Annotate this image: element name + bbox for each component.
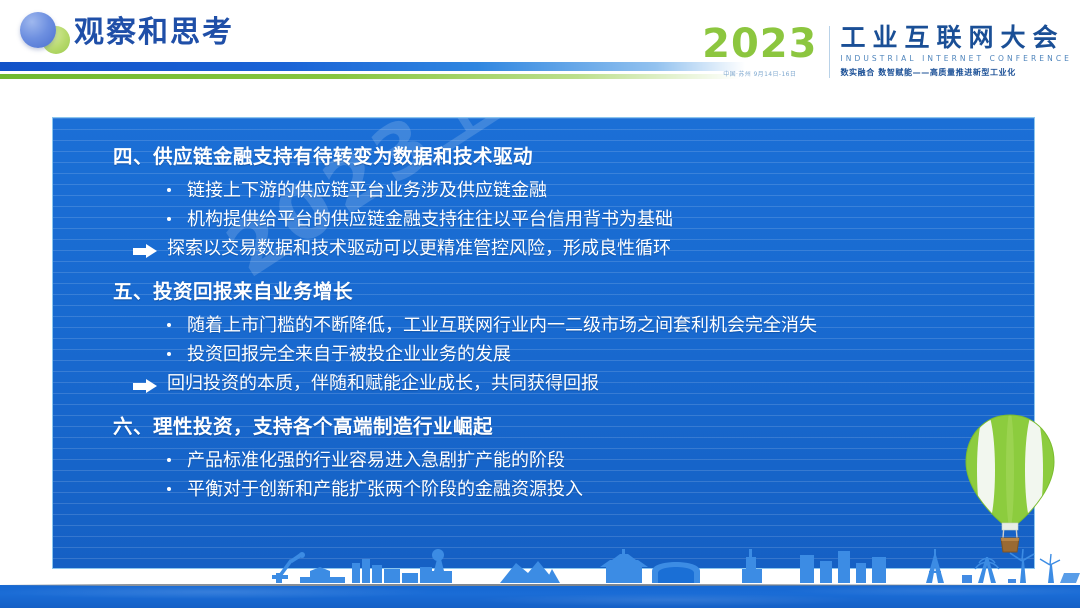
bullet-item: 机构提供给平台的供应链金融支持往往以平台信用背书为基础 [113,205,1034,234]
conference-date: 中国·苏州 9月14日-16日 [702,69,817,78]
bullet-text: 投资回报完全来自于被投企业业务的发展 [187,340,511,369]
section-heading: 四、供应链金融支持有待转变为数据和技术驱动 [113,140,1034,169]
bullet-list: 链接上下游的供应链平台业务涉及供应链金融机构提供给平台的供应链金融支持往往以平台… [113,176,1034,263]
bullet-item: 平衡对于创新和产能扩张两个阶段的金融资源投入 [113,475,1034,504]
arrow-bullet-icon [133,235,167,264]
industrial-city-skyline-icon [0,549,1080,585]
bullet-item: 链接上下游的供应链平台业务涉及供应链金融 [113,176,1034,205]
arrow-bullet-icon [133,370,167,399]
conference-logo-divider [829,26,830,78]
hot-air-balloon-icon [960,412,1060,562]
header-blue-rule [0,62,745,71]
conference-name-en: INDUSTRIAL INTERNET CONFERENCE [840,54,1072,63]
brand-sphere-logo-icon [14,8,76,56]
conference-logo: 2023 中国·苏州 9月14日-16日 工业互联网大会 INDUSTRIAL … [702,24,1072,90]
bullet-text: 机构提供给平台的供应链金融支持往往以平台信用背书为基础 [187,205,673,234]
content-section: 四、供应链金融支持有待转变为数据和技术驱动链接上下游的供应链平台业务涉及供应链金… [113,140,1034,263]
conference-name-cn: 工业互联网大会 [840,24,1072,51]
header-green-rule [0,74,740,79]
section-heading: 六、理性投资，支持各个高端制造行业崛起 [113,410,1034,439]
bullet-text: 探索以交易数据和技术驱动可以更精准管控风险，形成良性循环 [167,234,671,263]
bottom-wave-band [0,585,1080,608]
bullet-item: 随着上市门槛的不断降低，工业互联网行业内一二级市场之间套利机会完全消失 [113,311,1034,340]
bullet-text: 平衡对于创新和产能扩张两个阶段的金融资源投入 [187,475,583,504]
conference-year-block: 2023 中国·苏州 9月14日-16日 [702,24,829,78]
section-heading: 五、投资回报来自业务增长 [113,275,1034,304]
bullet-text: 随着上市门槛的不断降低，工业互联网行业内一二级市场之间套利机会完全消失 [187,311,817,340]
slide-header: 观察和思考 2023 中国·苏州 9月14日-16日 工业互联网大会 INDUS… [0,0,1080,110]
bullet-text: 回归投资的本质，伴随和赋能企业成长，共同获得回报 [167,369,599,398]
bullet-list: 产品标准化强的行业容易进入急剧扩产能的阶段平衡对于创新和产能扩张两个阶段的金融资… [113,446,1034,504]
content-panel: 2023工业互联网大会 四、供应链金融支持有待转变为数据和技术驱动链接上下游的供… [52,117,1035,569]
conference-name-block: 工业互联网大会 INDUSTRIAL INTERNET CONFERENCE 数… [840,24,1072,78]
page-title: 观察和思考 [74,7,234,51]
bullet-list: 随着上市门槛的不断降低，工业互联网行业内一二级市场之间套利机会完全消失投资回报完… [113,311,1034,398]
bullet-item: 探索以交易数据和技术驱动可以更精准管控风险，形成良性循环 [113,234,1034,263]
sections-list: 四、供应链金融支持有待转变为数据和技术驱动链接上下游的供应链平台业务涉及供应链金… [53,118,1034,504]
content-section: 五、投资回报来自业务增长随着上市门槛的不断降低，工业互联网行业内一二级市场之间套… [113,275,1034,398]
conference-slogan: 数实融合 数智赋能——高质量推进新型工业化 [840,67,1072,78]
conference-year: 2023 [702,24,817,64]
bullet-text: 链接上下游的供应链平台业务涉及供应链金融 [187,176,547,205]
dot-bullet-icon [157,340,187,369]
dot-bullet-icon [157,446,187,475]
bullet-item: 投资回报完全来自于被投企业业务的发展 [113,340,1034,369]
ground-line [0,584,1080,586]
dot-bullet-icon [157,176,187,205]
dot-bullet-icon [157,205,187,234]
bullet-text: 产品标准化强的行业容易进入急剧扩产能的阶段 [187,446,565,475]
dot-bullet-icon [157,311,187,340]
bullet-item: 回归投资的本质，伴随和赋能企业成长，共同获得回报 [113,369,1034,398]
content-section: 六、理性投资，支持各个高端制造行业崛起产品标准化强的行业容易进入急剧扩产能的阶段… [113,410,1034,504]
blue-sphere-icon [20,12,56,48]
dot-bullet-icon [157,475,187,504]
bullet-item: 产品标准化强的行业容易进入急剧扩产能的阶段 [113,446,1034,475]
